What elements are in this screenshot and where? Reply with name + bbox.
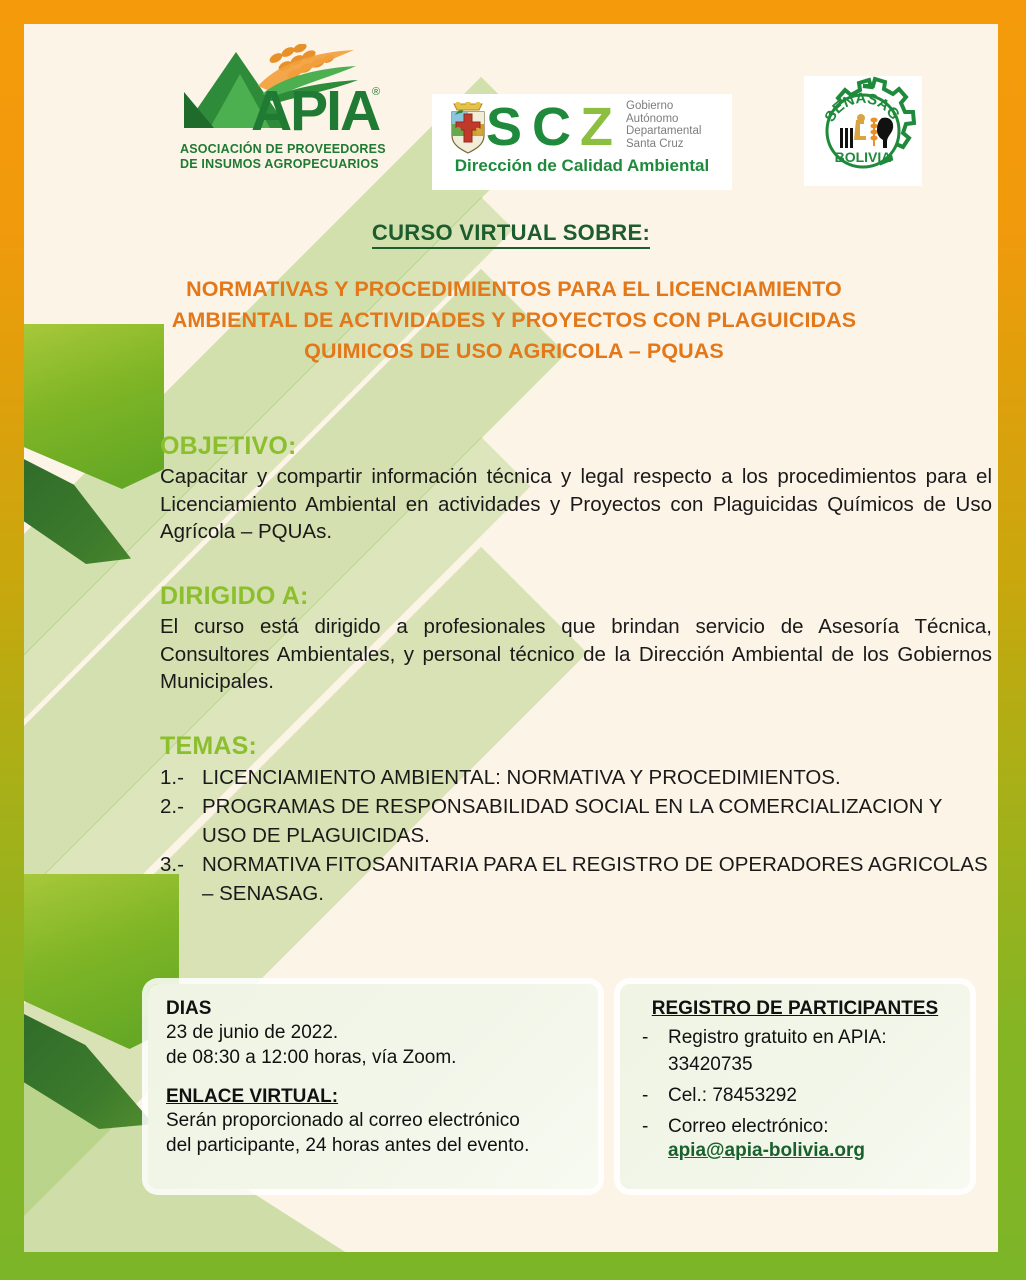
title-line-1: NORMATIVAS Y PROCEDIMIENTOS PARA EL LICE… (84, 274, 944, 305)
bullet-dash: - (642, 1082, 648, 1109)
section-dirigido-a: DIRIGIDO A: El curso está dirigido a pro… (160, 582, 992, 696)
enlace-line-2: del participante, 24 horas antes del eve… (166, 1133, 580, 1158)
registro-item-label: Correo electrónico: (668, 1116, 829, 1137)
temas-heading: TEMAS: (160, 732, 992, 761)
poster-canvas: APIA ® ASOCIACIÓN DE PROVEEDORES DE INSU… (24, 24, 998, 1252)
scz-gov-line3: Departamental (626, 125, 736, 138)
registro-item-label: Registro gratuito en APIA: (668, 1027, 887, 1048)
tema-item: 2.- PROGRAMAS DE RESPONSABILIDAD SOCIAL … (160, 792, 992, 850)
scz-gov-line1: Gobierno (626, 100, 736, 113)
scz-letter-s: S (486, 96, 520, 158)
santa-cruz-coat-of-arms-icon (446, 102, 490, 154)
bullet-dash: - (642, 1113, 648, 1140)
registro-item: - Correo electrónico: (638, 1113, 952, 1140)
apia-wordmark: APIA (251, 78, 379, 144)
border-top (0, 0, 1026, 24)
dias-time: de 08:30 a 12:00 horas, vía Zoom. (166, 1045, 580, 1070)
title-line-2: AMBIENTAL DE ACTIVIDADES Y PROYECTOS CON… (84, 305, 944, 336)
tema-item: 1.- LICENCIAMIENTO AMBIENTAL: NORMATIVA … (160, 763, 992, 792)
tema-text: PROGRAMAS DE RESPONSABILIDAD SOCIAL EN L… (202, 795, 942, 847)
border-bottom (0, 1254, 1026, 1280)
scz-logo: S C Z Gobierno Autónomo Departamental Sa… (432, 94, 732, 190)
tema-text: LICENCIAMIENTO AMBIENTAL: NORMATIVA Y PR… (202, 766, 841, 789)
senasag-logo: SENASAG (804, 76, 922, 186)
curso-label-text: CURSO VIRTUAL SOBRE: (372, 220, 650, 249)
enlace-line-1: Serán proporcionado al correo electrónic… (166, 1108, 580, 1133)
scz-government-text: Gobierno Autónomo Departamental Santa Cr… (626, 100, 736, 150)
apia-subtitle: ASOCIACIÓN DE PROVEEDORES DE INSUMOS AGR… (180, 142, 392, 172)
dirigido-heading: DIRIGIDO A: (160, 582, 992, 611)
registro-box: REGISTRO DE PARTICIPANTES - Registro gra… (620, 984, 970, 1189)
registro-item-value: 33420735 (668, 1054, 753, 1075)
dias-box: DIAS 23 de junio de 2022. de 08:30 a 12:… (148, 984, 598, 1189)
scz-gov-line2: Autónomo (626, 113, 736, 126)
enlace-virtual-heading: ENLACE VIRTUAL: (166, 1086, 580, 1108)
bullet-dash: - (642, 1024, 648, 1051)
tema-item: 3.- NORMATIVA FITOSANITARIA PARA EL REGI… (160, 850, 992, 908)
section-temas: TEMAS: 1.- LICENCIAMIENTO AMBIENTAL: NOR… (160, 732, 992, 908)
scz-letter-c: C (532, 96, 569, 158)
registro-item: - Cel.: 78453292 (638, 1082, 952, 1109)
title-line-3: QUIMICOS DE USO AGRICOLA – PQUAS (84, 336, 944, 367)
scz-direccion-label: Dirección de Calidad Ambiental (432, 156, 732, 176)
scz-gov-line4: Santa Cruz (626, 138, 736, 151)
section-objetivo: OBJETIVO: Capacitar y compartir informac… (160, 432, 992, 546)
svg-text:BOLIVIA: BOLIVIA (835, 149, 892, 165)
apia-registered-mark: ® (372, 86, 380, 98)
apia-subtitle-line2: DE INSUMOS AGROPECUARIOS (180, 157, 392, 172)
registro-email-link[interactable]: apia@apia-bolivia.org (638, 1140, 952, 1162)
tema-number: 3.- (160, 850, 184, 879)
senasag-gear-icon: SENASAG (804, 76, 922, 186)
apia-subtitle-line1: ASOCIACIÓN DE PROVEEDORES (180, 142, 392, 157)
objetivo-heading: OBJETIVO: (160, 432, 992, 461)
dias-date: 23 de junio de 2022. (166, 1020, 580, 1045)
tema-number: 1.- (160, 763, 184, 792)
scz-letter-z: Z (580, 96, 611, 158)
curso-label: CURSO VIRTUAL SOBRE: (24, 220, 998, 246)
dirigido-body: El curso está dirigido a profesionales q… (160, 613, 992, 696)
dias-heading: DIAS (166, 998, 580, 1020)
logo-row: APIA ® ASOCIACIÓN DE PROVEEDORES DE INSU… (24, 46, 998, 191)
tema-text: NORMATIVA FITOSANITARIA PARA EL REGISTRO… (202, 853, 988, 905)
registro-item: - Registro gratuito en APIA: 33420735 (638, 1024, 952, 1078)
registro-item-label: Cel.: 78453292 (668, 1085, 797, 1106)
registro-heading: REGISTRO DE PARTICIPANTES (638, 998, 952, 1020)
tema-number: 2.- (160, 792, 184, 821)
page-title: NORMATIVAS Y PROCEDIMIENTOS PARA EL LICE… (84, 274, 944, 367)
poster: APIA ® ASOCIACIÓN DE PROVEEDORES DE INSU… (0, 0, 1026, 1280)
objetivo-body: Capacitar y compartir información técnic… (160, 463, 992, 546)
scz-wordmark-row: S C Z Gobierno Autónomo Departamental Sa… (440, 98, 730, 156)
apia-logo: APIA ® ASOCIACIÓN DE PROVEEDORES DE INSU… (176, 46, 391, 181)
